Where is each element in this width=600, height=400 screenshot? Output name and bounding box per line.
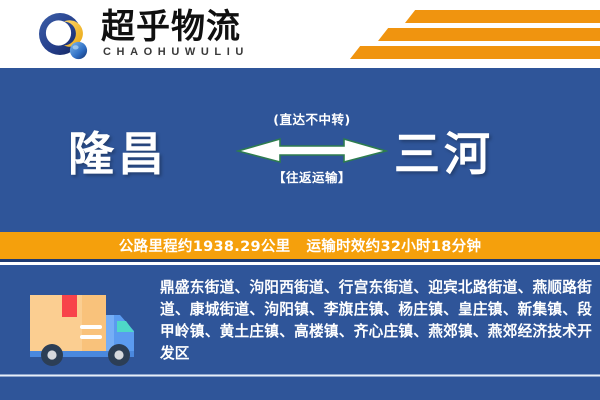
round-trip-note: 【往返运输】 xyxy=(236,170,388,186)
delivery-truck-icon xyxy=(14,285,146,369)
stripe-1 xyxy=(405,10,600,23)
coverage-panel: 鼎盛东街道、泃阳西街道、行宫东街道、迎宾北路街道、燕顺路街道、康城街道、泃阳镇、… xyxy=(0,265,600,400)
distance-text: 公路里程约1938.29公里 xyxy=(119,235,291,256)
coverage-area-list: 鼎盛东街道、泃阳西街道、行宫东街道、迎宾北路街道、燕顺路街道、康城街道、泃阳镇、… xyxy=(160,277,592,365)
header-stripes-decoration xyxy=(330,6,600,64)
chaohu-logo-circle-crescent-icon xyxy=(34,10,96,62)
stripe-2 xyxy=(378,28,600,41)
destination-city: 三河 xyxy=(394,118,494,184)
route-info-bar: 公路里程约1938.29公里 运输时效约32小时18分钟 xyxy=(0,232,600,262)
brand-name-en: CHAOHUWULIU xyxy=(103,46,249,58)
route-middle-group: (直达不中转) 【往返运输】 xyxy=(236,112,388,198)
banner-header: 超乎物流 CHAOHUWULIU xyxy=(0,0,600,68)
bottom-divider xyxy=(0,374,600,377)
stripe-3 xyxy=(350,46,600,59)
route-panel: 隆昌 (直达不中转) 【往返运输】 三河 xyxy=(0,68,600,232)
brand-name-cn: 超乎物流 xyxy=(101,8,241,46)
duration-text: 运输时效约32小时18分钟 xyxy=(306,235,481,256)
direct-shipping-note: (直达不中转) xyxy=(236,112,388,128)
logistics-route-banner: 超乎物流 CHAOHUWULIU 隆昌 (直达不中转) 【往返运输】 三河 xyxy=(0,0,600,400)
origin-city: 隆昌 xyxy=(68,118,168,184)
bidirectional-arrow-icon xyxy=(236,132,388,166)
